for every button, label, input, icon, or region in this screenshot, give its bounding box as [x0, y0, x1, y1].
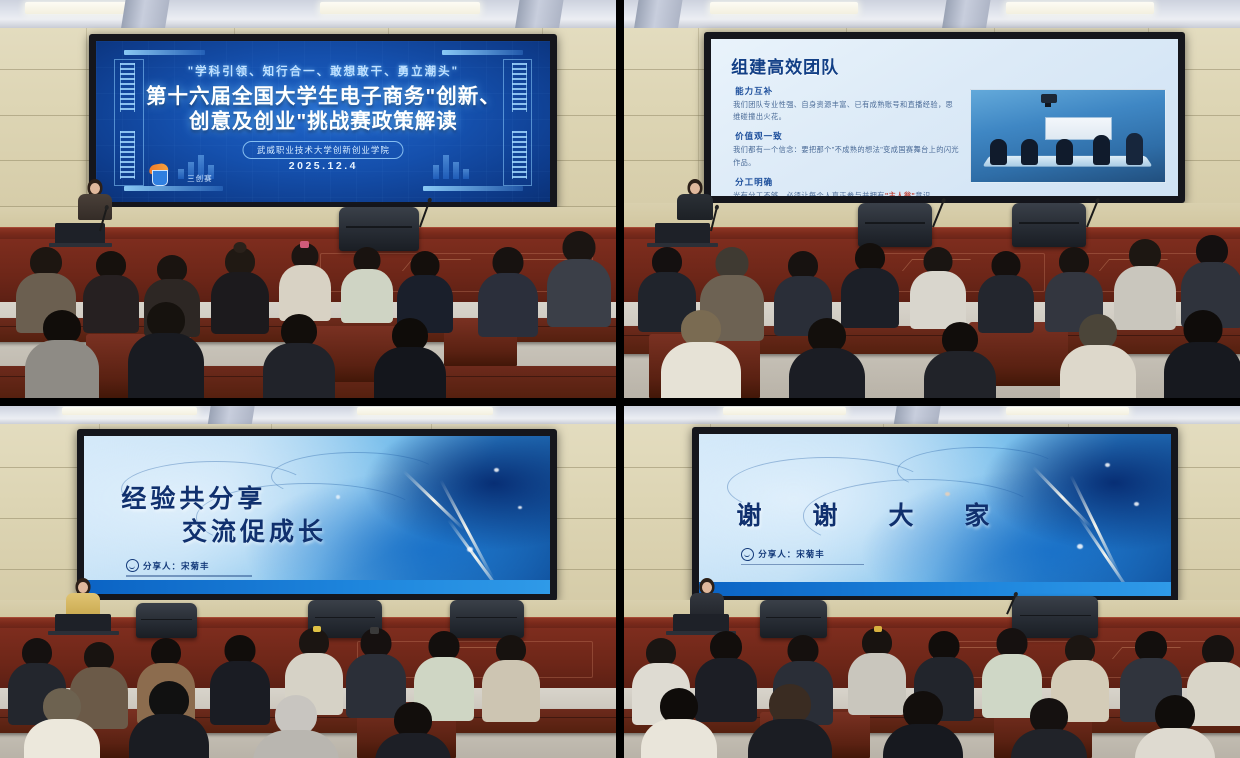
- slide-title: "学科引领、知行合一、敢想敢干、勇立潮头" 第十六届全国大学生电子商务"创新、 …: [96, 41, 550, 202]
- audience-person: [920, 322, 1000, 398]
- audience-person: [655, 310, 747, 398]
- laptop: [55, 614, 110, 632]
- audience-person: [246, 695, 345, 758]
- paragraph-1: 我们团队专业性强、自身资源丰富、已有成熟账号和直播经验，思维碰撞出火花。: [733, 99, 960, 123]
- photo-collage: "学科引领、知行合一、敢想敢干、勇立潮头" 第十六届全国大学生电子商务"创新、 …: [0, 0, 1240, 758]
- audience-person: [741, 684, 840, 758]
- presenter-badge-icon: [126, 559, 139, 572]
- audience-person: [907, 247, 969, 335]
- presenter-underline: [741, 564, 864, 566]
- audience-person: [370, 318, 450, 398]
- paragraph-3-after: 意识。: [915, 191, 938, 196]
- audience-person: [474, 247, 542, 343]
- panel-bottom-left: 经验共分享 交流促成长 分享人：宋菊丰: [0, 406, 616, 758]
- contest-logo-icon: [146, 163, 172, 189]
- led-display: 组建高效团队 能力互补 我们团队专业性强、自身资源丰富、已有成熟账号和直播经验，…: [704, 32, 1184, 203]
- ceiling-light: [320, 2, 480, 14]
- subheading-1: 能力互补: [735, 85, 960, 97]
- led-display: "学科引领、知行合一、敢想敢干、勇立潮头" 第十六届全国大学生电子商务"创新、 …: [89, 34, 557, 209]
- slide-presenter: 分享人：宋菊丰: [741, 548, 825, 561]
- ceiling-light: [62, 407, 198, 415]
- audience-person: [542, 231, 616, 342]
- ceiling-light: [710, 2, 858, 14]
- subheading-2: 价值观一致: [735, 130, 960, 142]
- audience-person: [370, 702, 456, 758]
- paragraph-3-before: 光有分工不够，必须让每个人真正参与并拥有: [733, 191, 885, 196]
- slide-heading: 组建高效团队: [731, 53, 1165, 78]
- paragraph-3-highlight: "主人翁": [885, 191, 915, 196]
- laptop: [673, 614, 728, 632]
- slide-presenter: 分享人：宋菊丰: [126, 559, 210, 572]
- presenter-underline: [126, 575, 252, 577]
- panel-top-right: 组建高效团队 能力互补 我们团队专业性强、自身资源丰富、已有成熟账号和直播经验，…: [624, 0, 1240, 398]
- subheading-3: 分工明确: [735, 176, 960, 188]
- slide-bottom-bar: [699, 582, 1172, 597]
- ceiling-light: [1006, 2, 1154, 14]
- audience-person: [1006, 698, 1092, 758]
- paragraph-3: 光有分工不够，必须让每个人真正参与并拥有"主人翁"意识。: [733, 190, 960, 196]
- audience-person: [877, 691, 969, 758]
- audience-person: [1055, 314, 1141, 398]
- paragraph-2: 我们都有一个信念：要把那个"不成熟的想法"变成国赛舞台上的闪光作品。: [733, 144, 960, 168]
- audience-person: [480, 635, 542, 719]
- slide-organization: 武威职业技术大学创新创业学院: [243, 141, 404, 159]
- logo-text: 三创赛: [187, 173, 213, 184]
- stage-chair: [339, 207, 419, 251]
- audience-person: [1160, 310, 1240, 398]
- ceiling-light: [1006, 407, 1129, 415]
- panel-top-left: "学科引领、知行合一、敢想敢干、勇立潮头" 第十六届全国大学生电子商务"创新、 …: [0, 0, 616, 398]
- stage-chair: [858, 203, 932, 247]
- ceiling-light: [357, 407, 493, 415]
- slide-photo: [970, 89, 1166, 183]
- audience-person: [339, 247, 394, 327]
- presenter-label: 分享人：宋菊丰: [143, 560, 210, 572]
- slide-team: 组建高效团队 能力互补 我们团队专业性强、自身资源丰富、已有成熟账号和直播经验，…: [711, 39, 1177, 196]
- led-display: 经验共分享 交流促成长 分享人：宋菊丰: [77, 429, 557, 601]
- audience-person: [784, 318, 870, 398]
- slide-tagline: "学科引领、知行合一、敢想敢干、勇立潮头": [96, 63, 550, 79]
- laptop: [55, 223, 104, 243]
- stage-chair: [1012, 203, 1086, 247]
- audience-person: [1129, 695, 1221, 758]
- slide-line2: 交流促成长: [182, 512, 327, 548]
- audience-person: [123, 681, 215, 758]
- presenter-label: 分享人：宋菊丰: [758, 548, 825, 560]
- audience-person: [636, 688, 722, 758]
- slide-thanks-text: 谢 谢 大 家: [737, 496, 1012, 532]
- slide-title-line2: 创意及创业"挑战赛政策解读: [96, 108, 550, 136]
- audience-person: [18, 310, 104, 398]
- laptop: [655, 223, 710, 243]
- stage-chair: [760, 600, 828, 639]
- stage-chair: [136, 603, 198, 638]
- audience-person: [123, 302, 209, 398]
- slide-line1: 经验共分享: [121, 479, 266, 515]
- slide-experience: 经验共分享 交流促成长 分享人：宋菊丰: [84, 436, 550, 594]
- led-display: 谢 谢 大 家 分享人：宋菊丰: [692, 427, 1179, 603]
- slide-bottom-bar: [84, 580, 550, 594]
- slide-title-line1: 第十六届全国大学生电子商务"创新、: [96, 83, 550, 111]
- ceiling-light: [723, 407, 846, 415]
- presenter-badge-icon: [741, 548, 754, 561]
- audience-person: [259, 314, 339, 398]
- panel-bottom-right: 谢 谢 大 家 分享人：宋菊丰: [624, 406, 1240, 758]
- audience-person: [18, 688, 104, 758]
- slide-thanks: 谢 谢 大 家 分享人：宋菊丰: [699, 434, 1172, 596]
